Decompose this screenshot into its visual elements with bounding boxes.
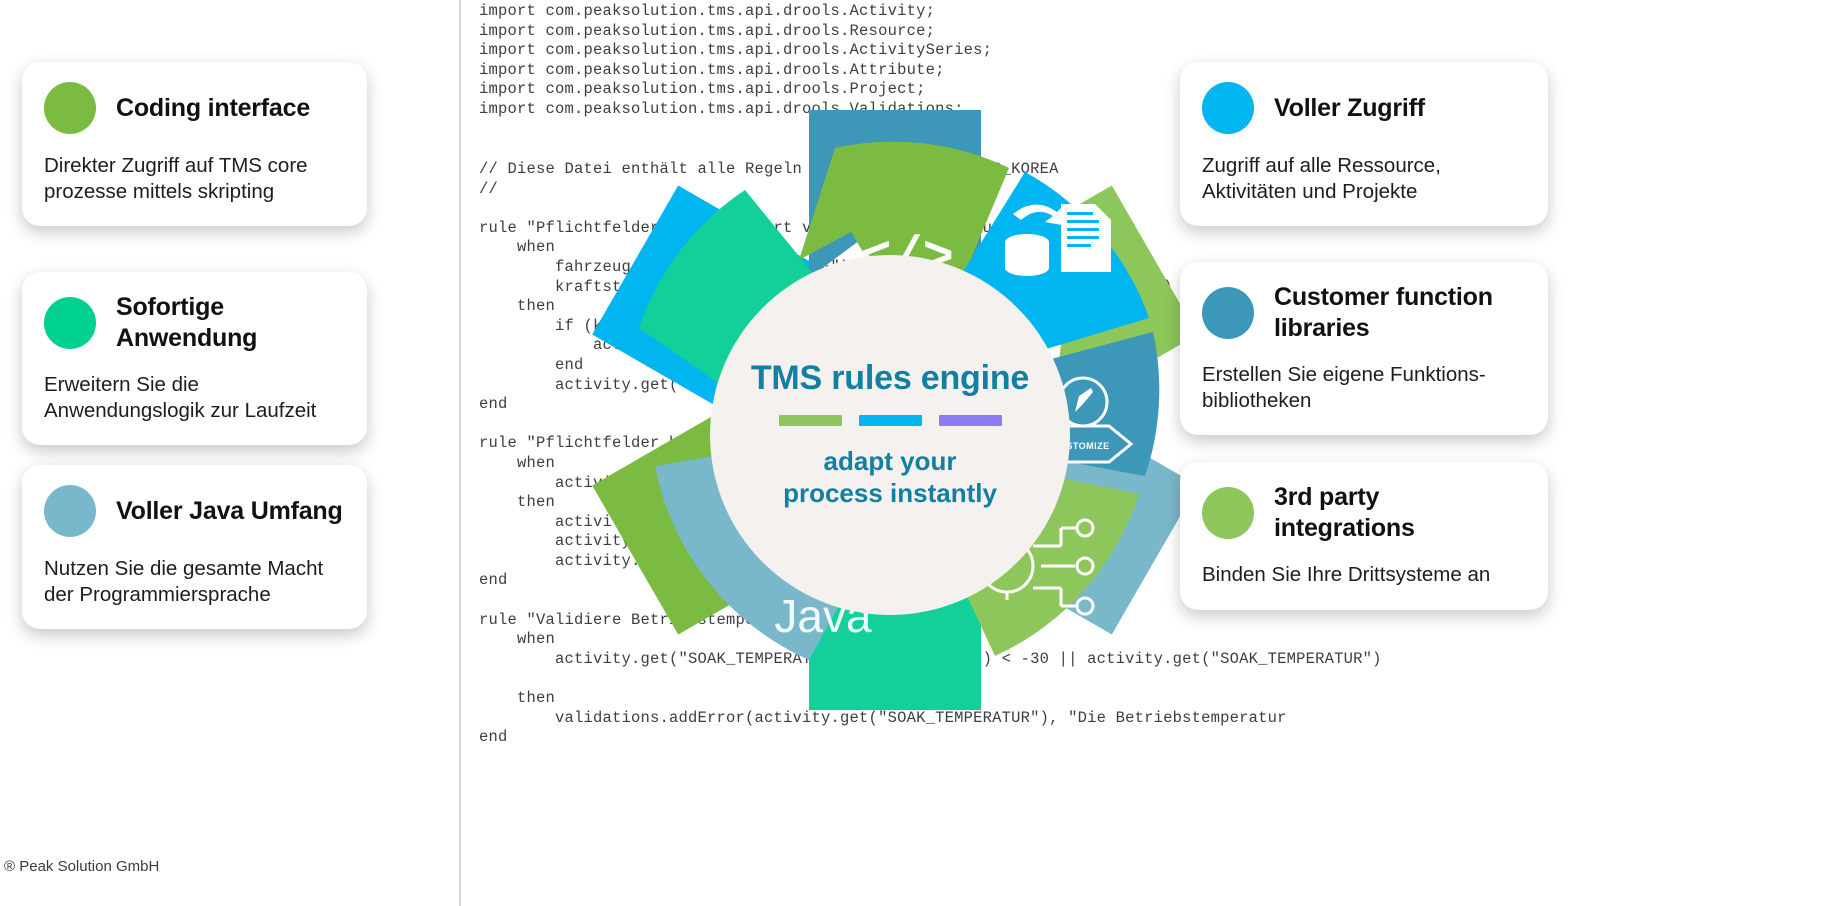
card-body: Binden Sie Ihre Drittsysteme an <box>1202 562 1524 588</box>
card-customer-function-libraries[interactable]: Customer function libraries Erstellen Si… <box>1180 262 1548 435</box>
center-hub: TMS rules engine adapt your process inst… <box>710 255 1070 615</box>
card-header: Coding interface <box>44 82 343 134</box>
card-body: Nutzen Sie die gesamte Macht der Program… <box>44 556 343 607</box>
hub-color-bars <box>779 415 1002 426</box>
status-dot <box>44 297 96 349</box>
card-voller-java-umfang[interactable]: Voller Java Umfang Nutzen Sie die gesamt… <box>22 465 367 629</box>
bar-cyan <box>859 415 922 426</box>
infographic-stage: import com.peaksolution.tms.api.drools.A… <box>0 0 1831 906</box>
hub-subtitle: adapt your process instantly <box>783 446 997 510</box>
card-voller-zugriff[interactable]: Voller Zugriff Zugriff auf alle Ressourc… <box>1180 62 1548 226</box>
card-title: Voller Java Umfang <box>116 496 343 527</box>
card-title: Voller Zugriff <box>1274 93 1425 124</box>
footer-copyright: ® Peak Solution GmbH <box>4 858 159 875</box>
card-header: 3rd party integrations <box>1202 482 1524 543</box>
hub-subtitle-line1: adapt your <box>783 446 997 478</box>
card-title: Sofortige Anwendung <box>116 292 343 353</box>
card-body: Erweitern Sie die Anwendungslogik zur La… <box>44 372 343 423</box>
card-body: Direkter Zugriff auf TMS core prozesse m… <box>44 153 343 204</box>
card-3rd-party-integrations[interactable]: 3rd party integrations Binden Sie Ihre D… <box>1180 462 1548 610</box>
status-dot <box>1202 82 1254 134</box>
card-header: Voller Zugriff <box>1202 82 1524 134</box>
status-dot <box>1202 487 1254 539</box>
bar-purple <box>939 415 1002 426</box>
card-sofortige-anwendung[interactable]: Sofortige Anwendung Erweitern Sie die An… <box>22 272 367 445</box>
card-header: Voller Java Umfang <box>44 485 343 537</box>
card-body: Erstellen Sie eigene Funktions-bibliothe… <box>1202 362 1524 413</box>
bar-green <box>779 415 842 426</box>
status-dot <box>1202 287 1254 339</box>
hub-subtitle-line2: process instantly <box>783 478 997 510</box>
status-dot <box>44 82 96 134</box>
card-header: Customer function libraries <box>1202 282 1524 343</box>
card-title: Customer function libraries <box>1274 282 1524 343</box>
card-coding-interface[interactable]: Coding interface Direkter Zugriff auf TM… <box>22 62 367 226</box>
card-header: Sofortige Anwendung <box>44 292 343 353</box>
card-title: Coding interface <box>116 93 310 124</box>
card-title: 3rd party integrations <box>1274 482 1524 543</box>
card-body: Zugriff auf alle Ressource, Aktivitäten … <box>1202 153 1524 204</box>
status-dot <box>44 485 96 537</box>
hub-title: TMS rules engine <box>751 361 1029 395</box>
